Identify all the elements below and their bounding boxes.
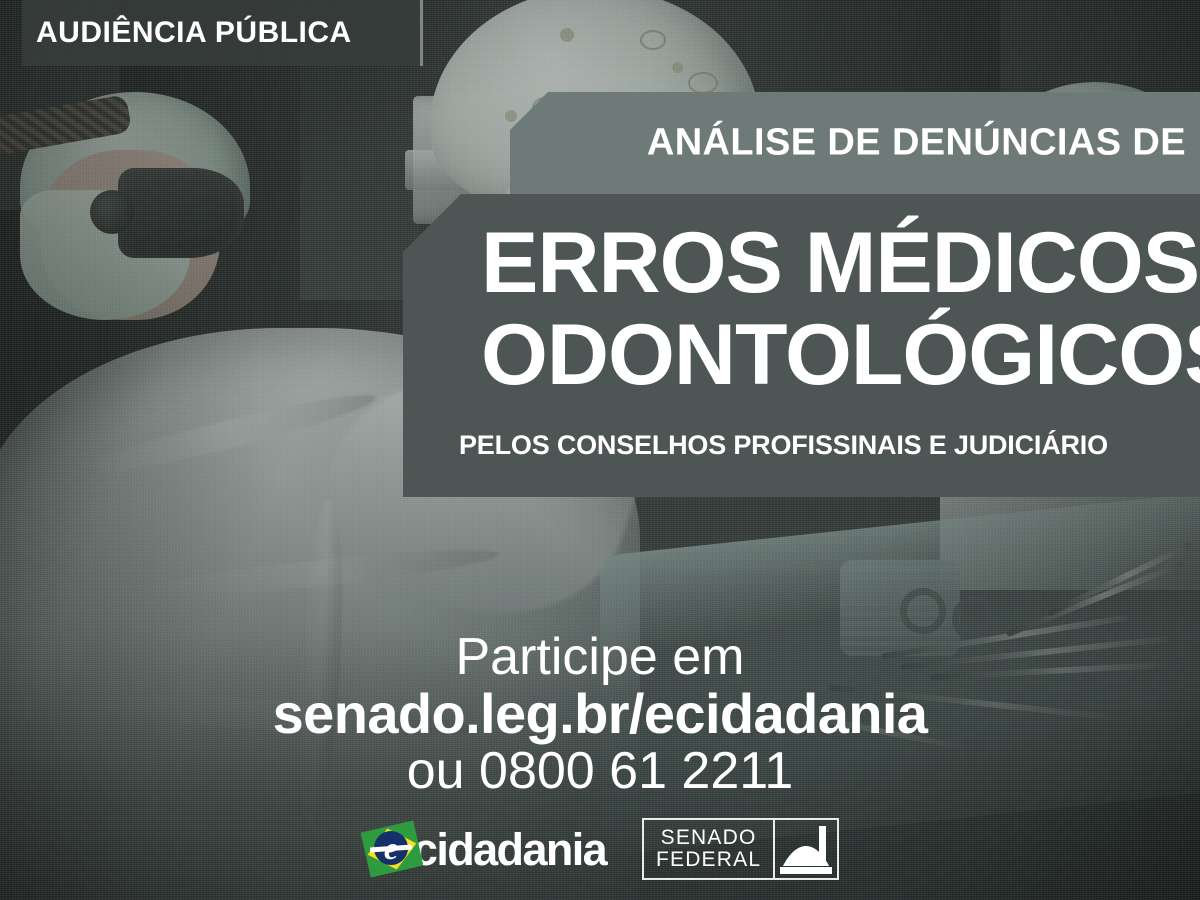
logo-row: e cidadania SENADO FEDERAL — [0, 818, 1200, 880]
headline-overline-plate: ANÁLISE DE DENÚNCIAS DE — [510, 92, 1200, 194]
headline-main-plate: ERROS MÉDICOS E ODONTOLÓGICOS PELOS CONS… — [403, 194, 1200, 497]
ecidadania-logo[interactable]: e cidadania — [361, 818, 606, 880]
senado-line-2: FEDERAL — [656, 849, 761, 871]
call-to-action: Participe em senado.leg.br/ecidadania ou… — [0, 630, 1200, 800]
senado-line-1: SENADO — [661, 827, 757, 849]
headline-overline-text: ANÁLISE DE DENÚNCIAS DE — [554, 122, 1186, 165]
cta-website-url[interactable]: senado.leg.br/ecidadania — [0, 684, 1200, 743]
congress-building-icon — [775, 820, 837, 878]
kicker-banner: AUDIÊNCIA PÚBLICA — [22, 0, 423, 66]
subheadline-text: PELOS CONSELHOS PROFISSINAIS E JUDICIÁRI… — [459, 430, 1184, 461]
ecidadania-flag-e-icon: e — [361, 818, 423, 880]
headline-line-1: ERROS MÉDICOS E — [481, 220, 1182, 306]
headline-line-2: ODONTOLÓGICOS — [481, 312, 1182, 398]
cta-line-1: Participe em — [0, 630, 1200, 684]
cta-phone-number[interactable]: ou 0800 61 2211 — [0, 743, 1200, 799]
senado-federal-wordmark: SENADO FEDERAL — [644, 820, 775, 878]
kicker-text: AUDIÊNCIA PÚBLICA — [22, 16, 352, 50]
ecidadania-wordmark: cidadania — [413, 827, 606, 872]
poster-root: AUDIÊNCIA PÚBLICA ANÁLISE DE DENÚNCIAS D… — [0, 0, 1200, 900]
senado-federal-logo[interactable]: SENADO FEDERAL — [642, 818, 839, 880]
